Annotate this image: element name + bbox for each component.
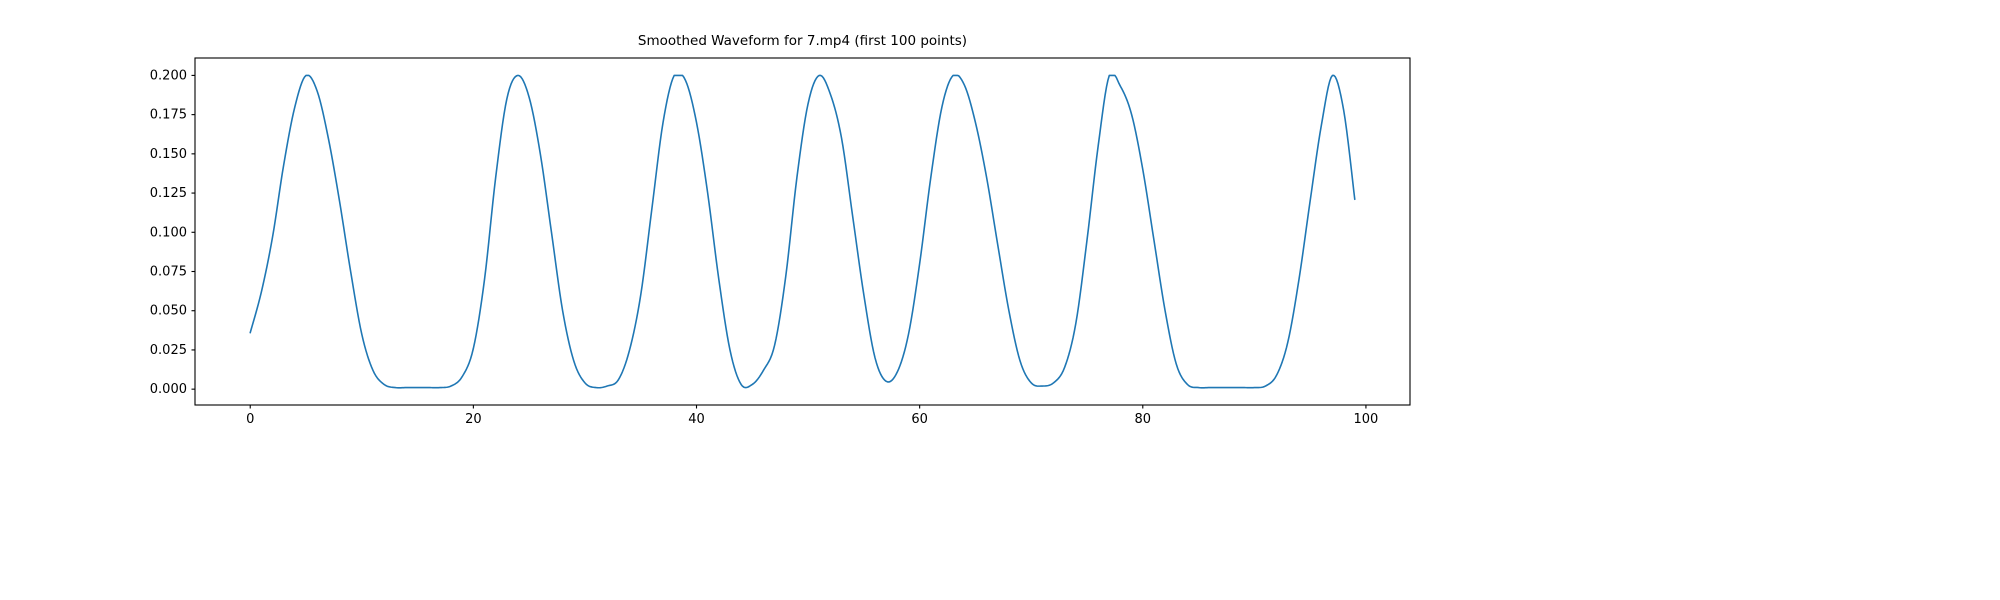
data-series-group [250,75,1355,387]
plot-canvas: 0.0000.0250.0500.0750.1000.1250.1500.175… [0,0,2000,600]
x-tick-label: 20 [465,412,482,427]
matplotlib-figure: Smoothed Waveform for 7.mp4 (first 100 p… [0,0,2000,600]
x-tick-label: 0 [246,412,254,427]
y-tick-label: 0.100 [150,225,187,240]
y-tick-label: 0.200 [150,68,187,83]
y-axis-ticks: 0.0000.0250.0500.0750.1000.1250.1500.175… [150,68,195,397]
y-tick-label: 0.000 [150,382,187,397]
y-tick-label: 0.175 [150,108,187,123]
waveform-line [250,75,1355,387]
y-tick-label: 0.075 [150,265,187,280]
y-tick-label: 0.125 [150,186,187,201]
axes-group: 0.0000.0250.0500.0750.1000.1250.1500.175… [150,58,1410,427]
y-tick-label: 0.050 [150,304,187,319]
x-tick-label: 40 [688,412,705,427]
x-tick-label: 80 [1135,412,1152,427]
x-tick-label: 60 [911,412,928,427]
x-axis-ticks: 020406080100 [246,405,1378,427]
y-tick-label: 0.025 [150,343,187,358]
y-tick-label: 0.150 [150,147,187,162]
x-tick-label: 100 [1354,412,1379,427]
axes-spines [195,58,1410,405]
